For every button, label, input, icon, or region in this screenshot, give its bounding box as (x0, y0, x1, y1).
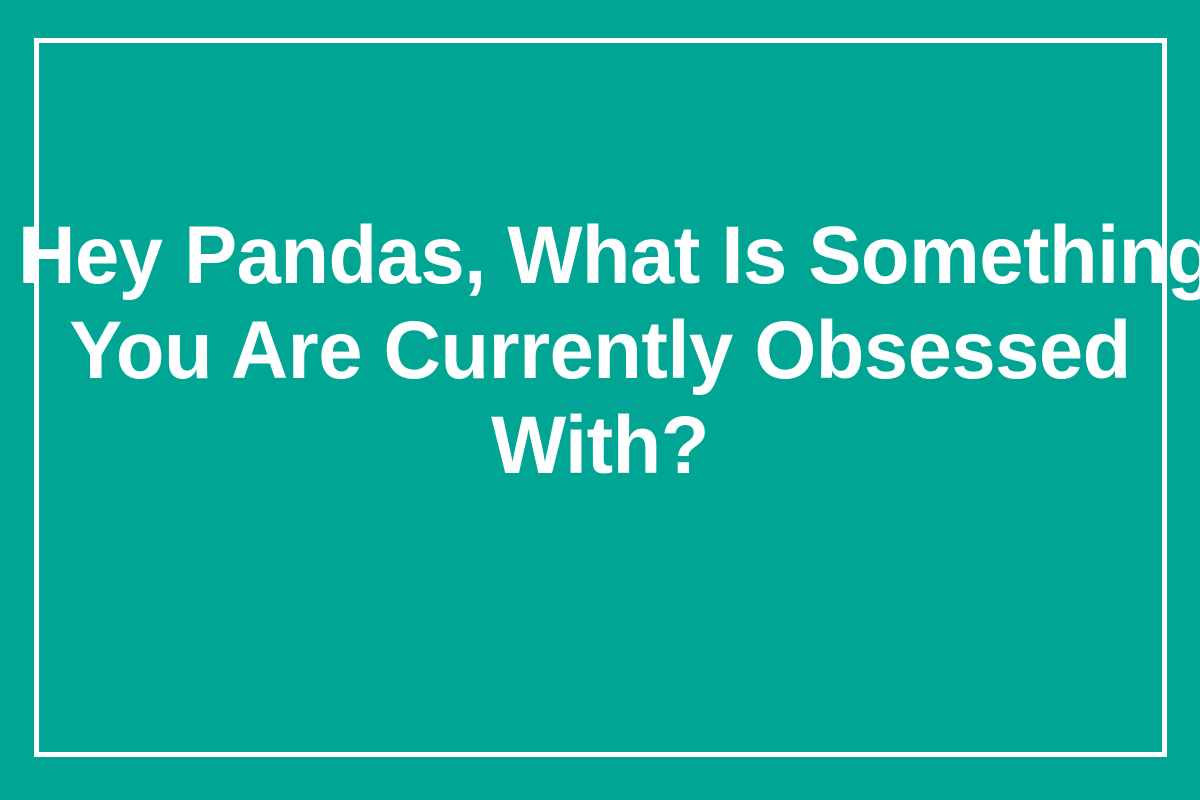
headline-block: Hey Pandas, What Is Something You Are Cu… (0, 0, 1200, 800)
headline-line-1: Hey Pandas, What Is Something (18, 208, 1182, 303)
headline-line-3: With? (18, 398, 1182, 493)
headline-line-2: You Are Currently Obsessed (18, 303, 1182, 398)
poster-canvas: Hey Pandas, What Is Something You Are Cu… (0, 0, 1200, 800)
